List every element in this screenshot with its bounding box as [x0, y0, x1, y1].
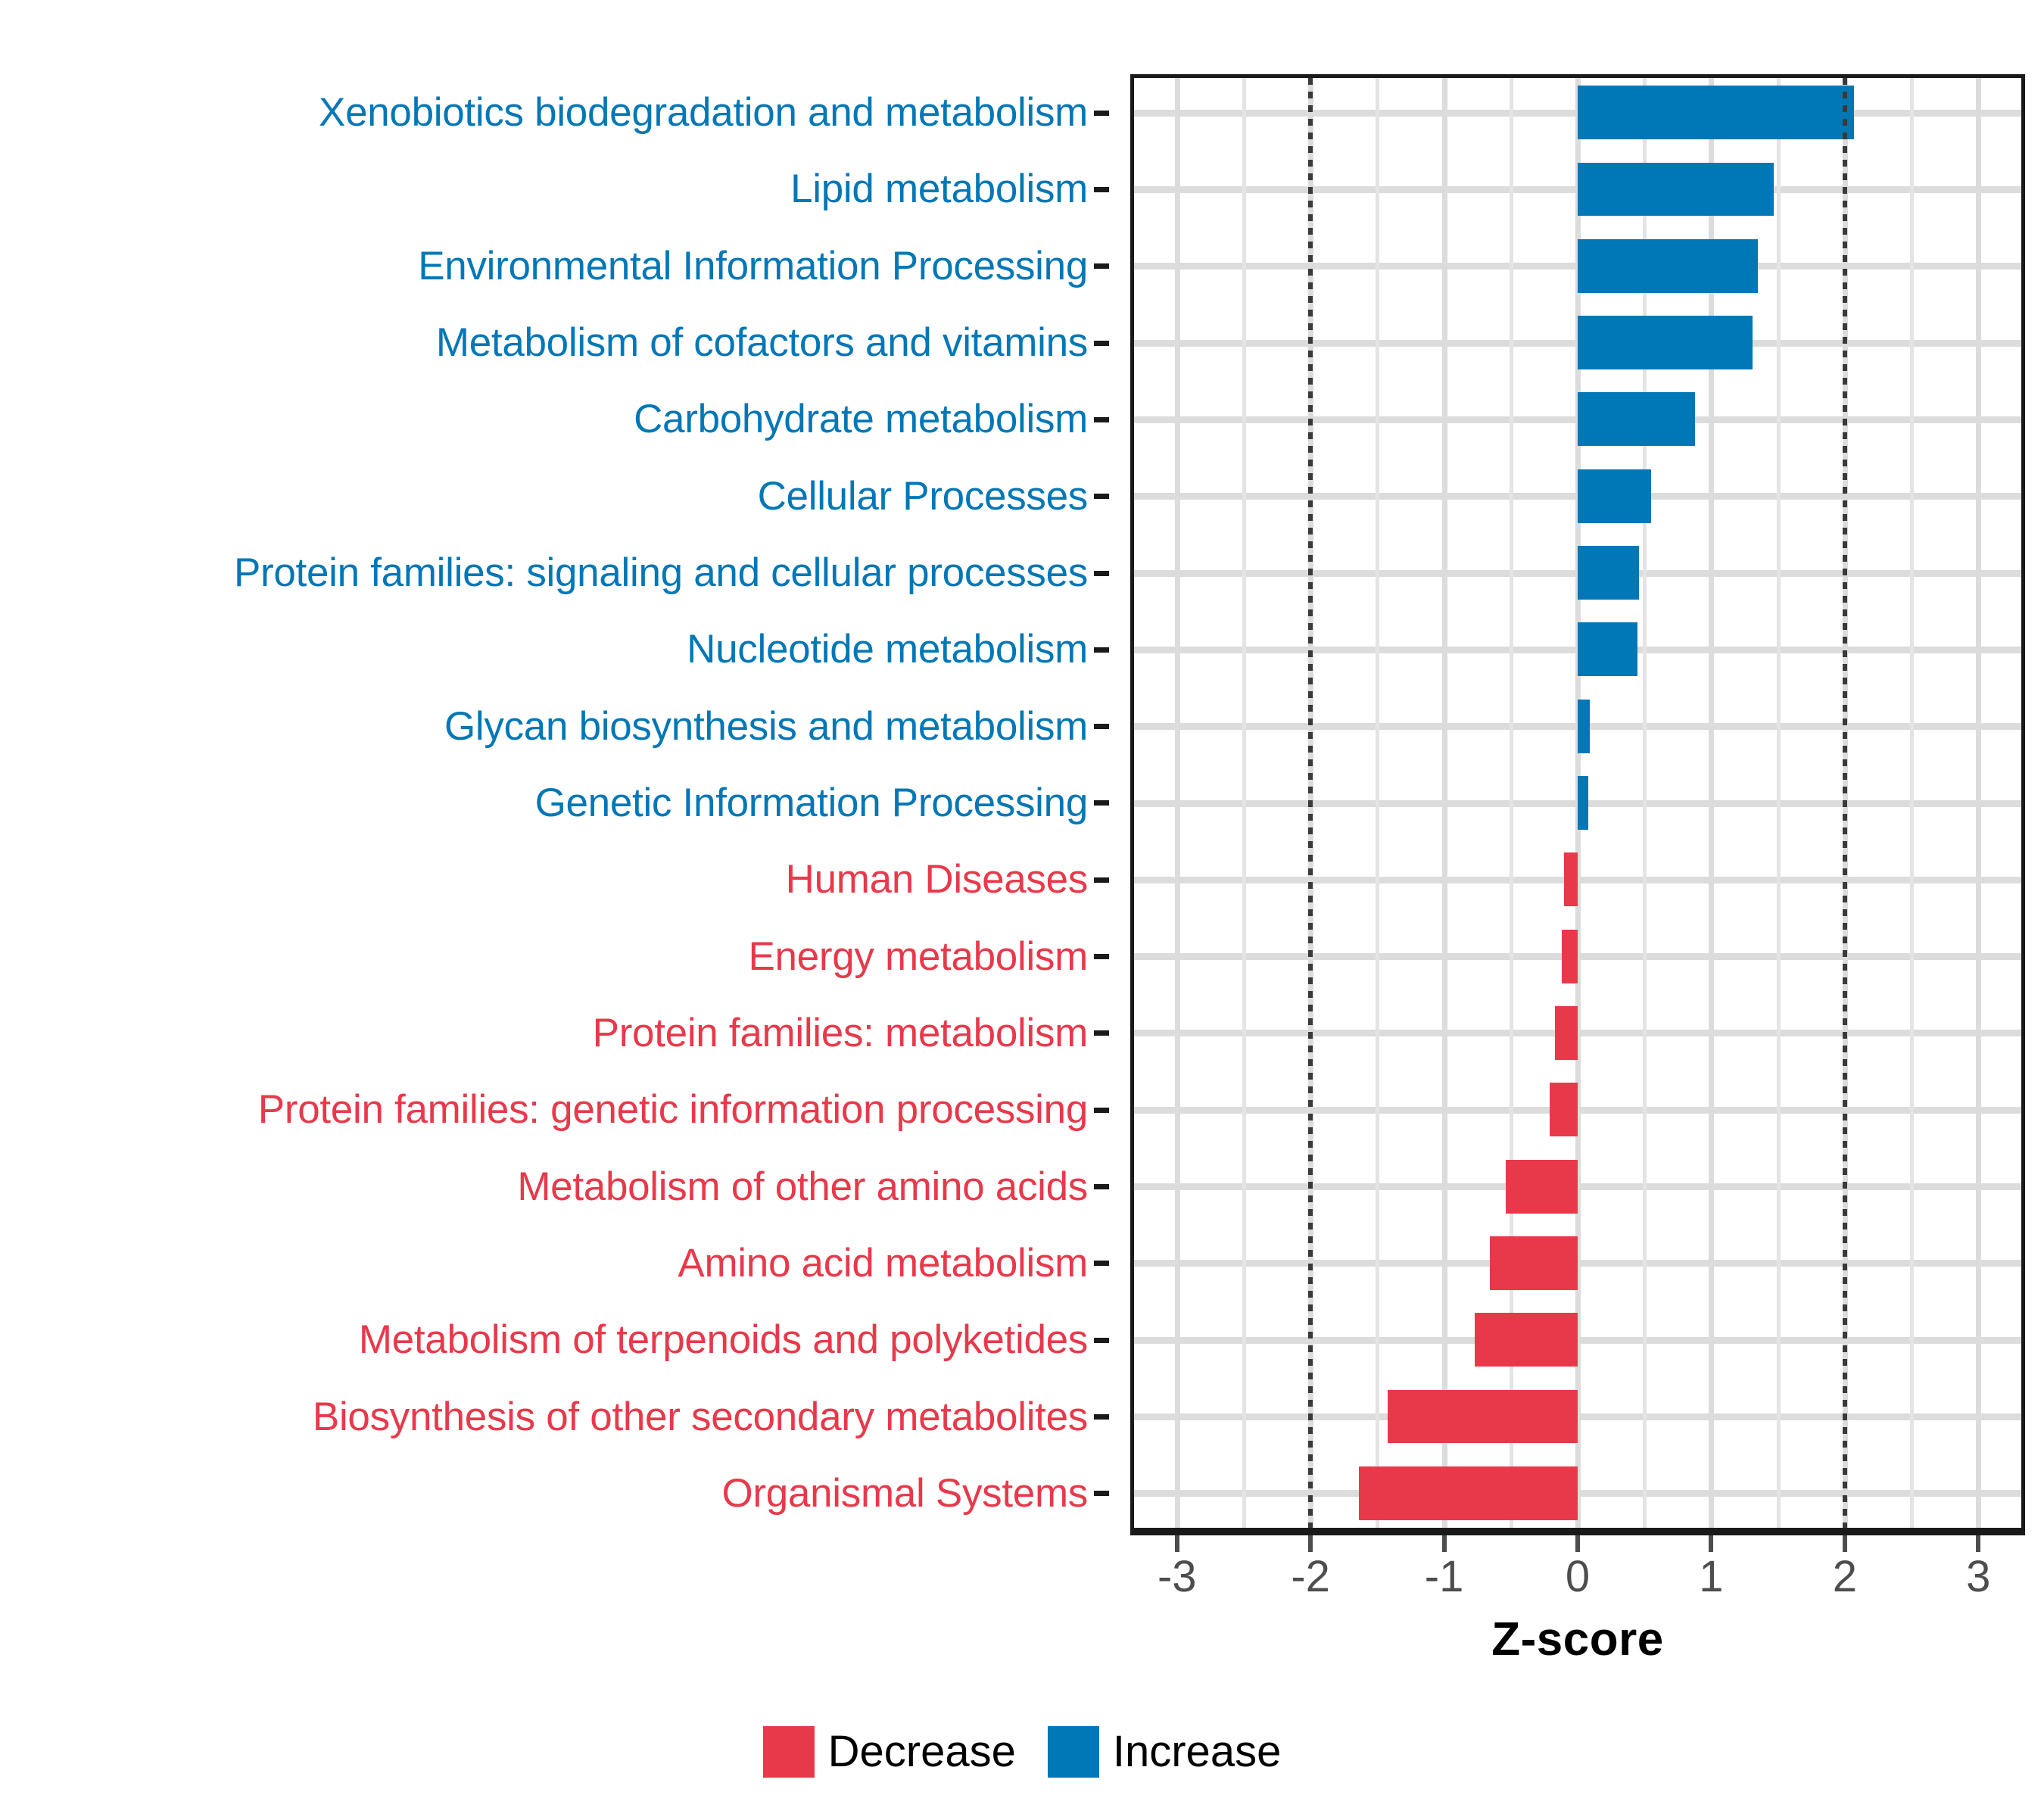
y-axis-tick-mark	[1094, 1184, 1109, 1189]
y-axis-category-label: Glycan biosynthesis and metabolism	[0, 688, 1109, 765]
y-axis-tick-mark	[1094, 571, 1109, 576]
gridline-vertical-major	[1175, 78, 1180, 1528]
y-axis-tick-mark	[1094, 1108, 1109, 1113]
y-axis-tick-mark	[1094, 111, 1109, 116]
x-axis-tick-label: 1	[1658, 1555, 1764, 1599]
y-axis-category-label: Carbohydrate metabolism	[0, 381, 1109, 457]
reference-line	[1308, 78, 1313, 1528]
legend-label: Increase	[1113, 1730, 1281, 1774]
y-axis-category-label: Xenobiotics biodegradation and metabolis…	[0, 74, 1109, 151]
y-axis-tick-mark	[1094, 1338, 1109, 1343]
gridline-vertical-major	[1976, 78, 1981, 1528]
y-axis-category-label: Cellular Processes	[0, 458, 1109, 535]
gridline-vertical-major	[1442, 78, 1447, 1528]
y-axis-tick-mark	[1094, 954, 1109, 959]
y-axis-category-label: Environmental Information Processing	[0, 228, 1109, 304]
bar	[1550, 1083, 1578, 1136]
bar	[1578, 392, 1695, 446]
gridline-vertical-major	[1709, 78, 1714, 1528]
y-axis-category-label: Protein families: metabolism	[0, 995, 1109, 1071]
y-axis-category-label-text: Lipid metabolism	[790, 169, 1088, 209]
y-axis-category-label-text: Protein families: metabolism	[593, 1013, 1088, 1053]
legend-label: Decrease	[828, 1730, 1016, 1774]
z-score-bar-chart: Xenobiotics biodegradation and metabolis…	[0, 0, 2044, 1817]
legend-item[interactable]: Decrease	[763, 1726, 1016, 1778]
x-axis-tick-label: -2	[1257, 1555, 1363, 1599]
y-axis-tick-mark	[1094, 494, 1109, 499]
bar	[1388, 1390, 1578, 1444]
y-axis-category-label-text: Xenobiotics biodegradation and metabolis…	[319, 92, 1088, 132]
gridline-vertical-minor	[1510, 78, 1513, 1528]
bar	[1578, 469, 1651, 523]
y-axis-tick-mark	[1094, 263, 1109, 269]
y-axis-category-label: Metabolism of terpenoids and polyketides	[0, 1301, 1109, 1378]
bar	[1578, 776, 1588, 830]
y-axis-tick-mark	[1094, 800, 1109, 806]
y-axis-tick-mark	[1094, 724, 1109, 729]
y-axis-category-label: Lipid metabolism	[0, 151, 1109, 227]
y-axis-category-label-text: Metabolism of cofactors and vitamins	[436, 323, 1088, 363]
bar	[1578, 700, 1590, 753]
y-axis-tick-mark	[1094, 1261, 1109, 1266]
bar	[1578, 239, 1758, 293]
gridline-vertical-minor	[1376, 78, 1379, 1528]
x-axis-tick-mark	[1575, 1535, 1580, 1552]
bar	[1475, 1313, 1578, 1367]
x-axis-tick-label: 0	[1525, 1555, 1631, 1599]
y-axis-category-label-text: Energy metabolism	[748, 937, 1088, 977]
x-axis-tick-mark	[1976, 1535, 1980, 1552]
y-axis-category-label-text: Protein families: genetic information pr…	[258, 1089, 1088, 1130]
x-axis-tick-mark	[1308, 1535, 1313, 1552]
bar	[1506, 1160, 1578, 1214]
y-axis-category-label: Energy metabolism	[0, 918, 1109, 994]
x-axis-tick-label: 2	[1792, 1555, 1898, 1599]
bar	[1555, 1006, 1578, 1060]
bar	[1578, 546, 1639, 600]
y-axis-category-label: Biosynthesis of other secondary metaboli…	[0, 1378, 1109, 1454]
chart-legend: DecreaseIncrease	[0, 1726, 2044, 1778]
y-axis-category-label: Metabolism of cofactors and vitamins	[0, 304, 1109, 381]
x-axis-tick-mark	[1709, 1535, 1713, 1552]
bar	[1578, 622, 1637, 676]
y-axis-category-label: Human Diseases	[0, 841, 1109, 918]
x-axis-tick-label: 3	[1925, 1555, 2031, 1599]
bar	[1359, 1466, 1578, 1520]
y-axis-category-label: Protein families: genetic information pr…	[0, 1071, 1109, 1148]
bar	[1490, 1236, 1578, 1290]
legend-item[interactable]: Increase	[1048, 1726, 1281, 1778]
bar	[1562, 930, 1578, 983]
y-axis-category-label-text: Carbohydrate metabolism	[634, 399, 1088, 439]
gridline-vertical-minor	[1643, 78, 1647, 1528]
y-axis-category-label: Amino acid metabolism	[0, 1225, 1109, 1301]
x-axis-title: Z-score	[1130, 1613, 2025, 1666]
gridline-vertical-minor	[1910, 78, 1914, 1528]
x-axis-tick-label: -1	[1391, 1555, 1497, 1599]
y-axis-label-column: Xenobiotics biodegradation and metabolis…	[0, 74, 1109, 1532]
y-axis-category-label-text: Environmental Information Processing	[418, 246, 1088, 286]
legend-color-swatch	[1048, 1726, 1099, 1778]
y-axis-category-label: Metabolism of other amino acids	[0, 1148, 1109, 1224]
bar	[1564, 852, 1578, 906]
y-axis-tick-mark	[1094, 341, 1109, 346]
x-axis-tick-mark	[1843, 1535, 1847, 1552]
y-axis-tick-mark	[1094, 1491, 1109, 1496]
y-axis-category-label-text: Metabolism of terpenoids and polyketides	[359, 1320, 1088, 1360]
y-axis-category-label-text: Cellular Processes	[758, 476, 1088, 516]
y-axis-tick-mark	[1094, 417, 1109, 422]
y-axis-category-label-text: Genetic Information Processing	[535, 783, 1088, 823]
y-axis-tick-mark	[1094, 1414, 1109, 1420]
bar	[1578, 163, 1774, 217]
reference-line	[1843, 78, 1847, 1528]
y-axis-category-label: Genetic Information Processing	[0, 765, 1109, 841]
y-axis-category-label-text: Amino acid metabolism	[678, 1243, 1088, 1283]
y-axis-category-label-text: Organismal Systems	[721, 1473, 1088, 1513]
x-axis-tick-mark	[1175, 1535, 1179, 1552]
legend-color-swatch	[763, 1726, 815, 1778]
y-axis-category-label-text: Metabolism of other amino acids	[517, 1167, 1088, 1207]
plot-panel	[1130, 74, 2025, 1532]
y-axis-category-label-text: Protein families: signaling and cellular…	[234, 553, 1088, 593]
bar	[1578, 316, 1753, 369]
y-axis-tick-mark	[1094, 647, 1109, 653]
y-axis-category-label-text: Nucleotide metabolism	[687, 629, 1088, 669]
y-axis-tick-mark	[1094, 187, 1109, 192]
y-axis-category-label: Organismal Systems	[0, 1455, 1109, 1532]
x-axis-line	[1130, 1529, 2025, 1535]
gridline-vertical-minor	[1777, 78, 1781, 1528]
bar	[1578, 86, 1854, 139]
x-axis-tick-mark	[1442, 1535, 1447, 1552]
y-axis-category-label-text: Human Diseases	[786, 859, 1088, 899]
x-axis-tick-label: -3	[1124, 1555, 1230, 1599]
y-axis-category-label-text: Glycan biosynthesis and metabolism	[444, 706, 1088, 746]
gridline-vertical-minor	[1242, 78, 1246, 1528]
y-axis-tick-mark	[1094, 877, 1109, 883]
y-axis-category-label: Nucleotide metabolism	[0, 611, 1109, 687]
y-axis-category-label-text: Biosynthesis of other secondary metaboli…	[313, 1397, 1088, 1437]
y-axis-tick-mark	[1094, 1030, 1109, 1036]
y-axis-category-label: Protein families: signaling and cellular…	[0, 535, 1109, 611]
